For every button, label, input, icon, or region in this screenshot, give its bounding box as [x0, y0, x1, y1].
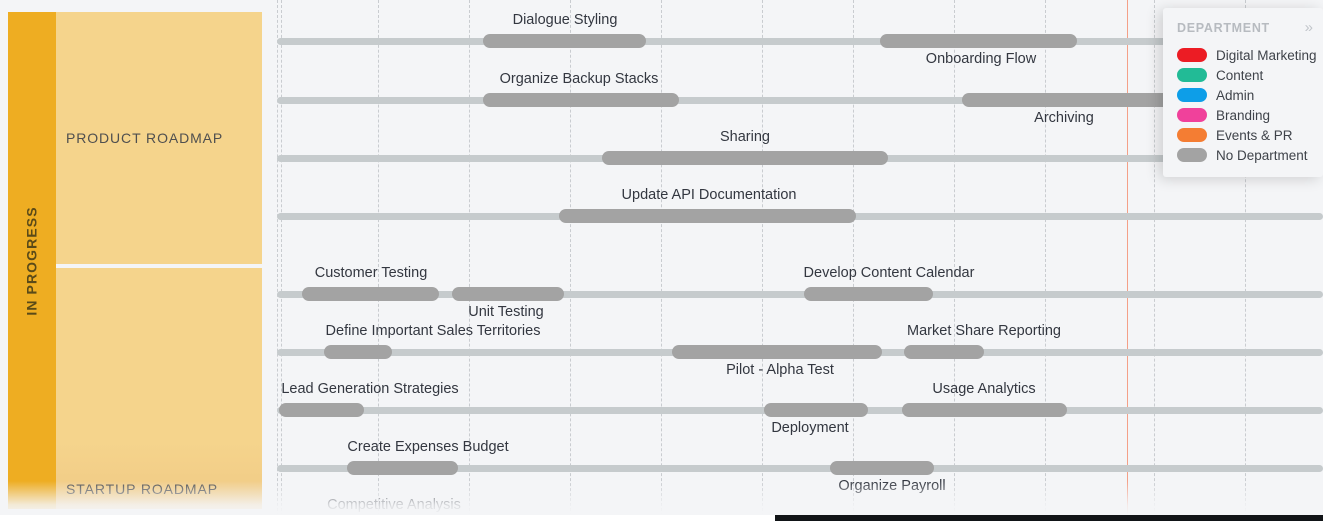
- task-bar[interactable]: [902, 403, 1067, 417]
- timeline-row: Lead Generation StrategiesDeploymentUsag…: [277, 381, 1323, 439]
- legend-item-label: Branding: [1216, 108, 1270, 123]
- task-bar[interactable]: [347, 461, 458, 475]
- legend-color-swatch: [1177, 148, 1207, 162]
- status-strip-label: IN PROGRESS: [24, 206, 40, 315]
- task-bar-label[interactable]: Lead Generation Strategies: [281, 381, 458, 397]
- task-bar-label[interactable]: Sharing: [720, 129, 770, 145]
- task-bar[interactable]: [559, 209, 856, 223]
- chevron-double-right-icon[interactable]: »: [1305, 20, 1313, 35]
- task-bar[interactable]: [279, 403, 364, 417]
- legend-item[interactable]: Admin: [1163, 85, 1323, 105]
- task-bar-label[interactable]: Organize Payroll: [838, 478, 945, 494]
- task-bar-label[interactable]: Market Share Reporting: [907, 323, 1061, 339]
- legend-item-label: Content: [1216, 68, 1263, 83]
- horizontal-scrollbar[interactable]: [0, 515, 1323, 521]
- legend-item[interactable]: No Department: [1163, 145, 1323, 165]
- group-panel-label: PRODUCT ROADMAP: [66, 130, 223, 146]
- task-bar[interactable]: [880, 34, 1077, 48]
- task-bar-label[interactable]: Update API Documentation: [622, 187, 797, 203]
- legend-item-label: Admin: [1216, 88, 1254, 103]
- board-sidebar: IN PROGRESS PRODUCT ROADMAP STARTUP ROAD…: [8, 12, 262, 509]
- task-bar[interactable]: [764, 403, 868, 417]
- legend-item-label: No Department: [1216, 148, 1308, 163]
- task-bar[interactable]: [483, 34, 646, 48]
- legend-item[interactable]: Content: [1163, 65, 1323, 85]
- legend-color-swatch: [1177, 108, 1207, 122]
- legend-item-label: Events & PR: [1216, 128, 1293, 143]
- task-bar-label[interactable]: Deployment: [771, 420, 848, 436]
- legend-item[interactable]: Digital Marketing: [1163, 45, 1323, 65]
- group-panel-label: STARTUP ROADMAP: [66, 481, 218, 497]
- task-bar[interactable]: [302, 287, 439, 301]
- scrollbar-thumb[interactable]: [0, 515, 775, 521]
- group-panel-startup-roadmap[interactable]: STARTUP ROADMAP: [56, 268, 262, 509]
- task-bar-label[interactable]: Create Expenses Budget: [347, 439, 508, 455]
- legend-item-label: Digital Marketing: [1216, 48, 1317, 63]
- legend-color-swatch: [1177, 128, 1207, 142]
- group-panel-list: PRODUCT ROADMAP STARTUP ROADMAP: [56, 12, 262, 509]
- legend-color-swatch: [1177, 48, 1207, 62]
- legend-item[interactable]: Events & PR: [1163, 125, 1323, 145]
- timeline-row: Customer TestingUnit TestingDevelop Cont…: [277, 265, 1323, 323]
- task-bar-label[interactable]: Usage Analytics: [932, 381, 1035, 397]
- task-bar[interactable]: [483, 93, 679, 107]
- task-bar-label[interactable]: Unit Testing: [468, 304, 544, 320]
- task-bar[interactable]: [324, 345, 392, 359]
- task-bar[interactable]: [804, 287, 933, 301]
- task-bar-label[interactable]: Organize Backup Stacks: [500, 71, 659, 87]
- timeline-row: Define Important Sales TerritoriesPilot …: [277, 323, 1323, 381]
- group-panel-product-roadmap[interactable]: PRODUCT ROADMAP: [56, 12, 262, 264]
- task-bar-label[interactable]: Dialogue Styling: [513, 12, 618, 28]
- legend-item[interactable]: Branding: [1163, 105, 1323, 125]
- task-bar-label[interactable]: Competitive Analysis: [327, 497, 461, 513]
- legend-color-swatch: [1177, 88, 1207, 102]
- task-bar-label[interactable]: Onboarding Flow: [926, 51, 1036, 67]
- legend-title: DEPARTMENT: [1177, 21, 1270, 35]
- timeline-row: Create Expenses BudgetOrganize Payroll: [277, 439, 1323, 497]
- legend-header: DEPARTMENT »: [1163, 18, 1323, 45]
- task-bar[interactable]: [904, 345, 984, 359]
- timeline-row: Update API Documentation: [277, 187, 1323, 245]
- task-bar-label[interactable]: Define Important Sales Territories: [326, 323, 541, 339]
- task-bar-label[interactable]: Pilot - Alpha Test: [726, 362, 834, 378]
- task-bar[interactable]: [830, 461, 934, 475]
- task-bar[interactable]: [602, 151, 888, 165]
- task-bar-label[interactable]: Archiving: [1034, 110, 1094, 126]
- department-legend[interactable]: DEPARTMENT » Digital MarketingContentAdm…: [1163, 8, 1323, 177]
- status-strip-in-progress[interactable]: IN PROGRESS: [8, 12, 56, 509]
- task-bar[interactable]: [452, 287, 564, 301]
- task-bar-label[interactable]: Customer Testing: [315, 265, 428, 281]
- legend-item-list: Digital MarketingContentAdminBrandingEve…: [1163, 45, 1323, 165]
- legend-color-swatch: [1177, 68, 1207, 82]
- task-bar[interactable]: [672, 345, 882, 359]
- task-bar-label[interactable]: Develop Content Calendar: [804, 265, 975, 281]
- gantt-timeline-app: IN PROGRESS PRODUCT ROADMAP STARTUP ROAD…: [0, 0, 1323, 521]
